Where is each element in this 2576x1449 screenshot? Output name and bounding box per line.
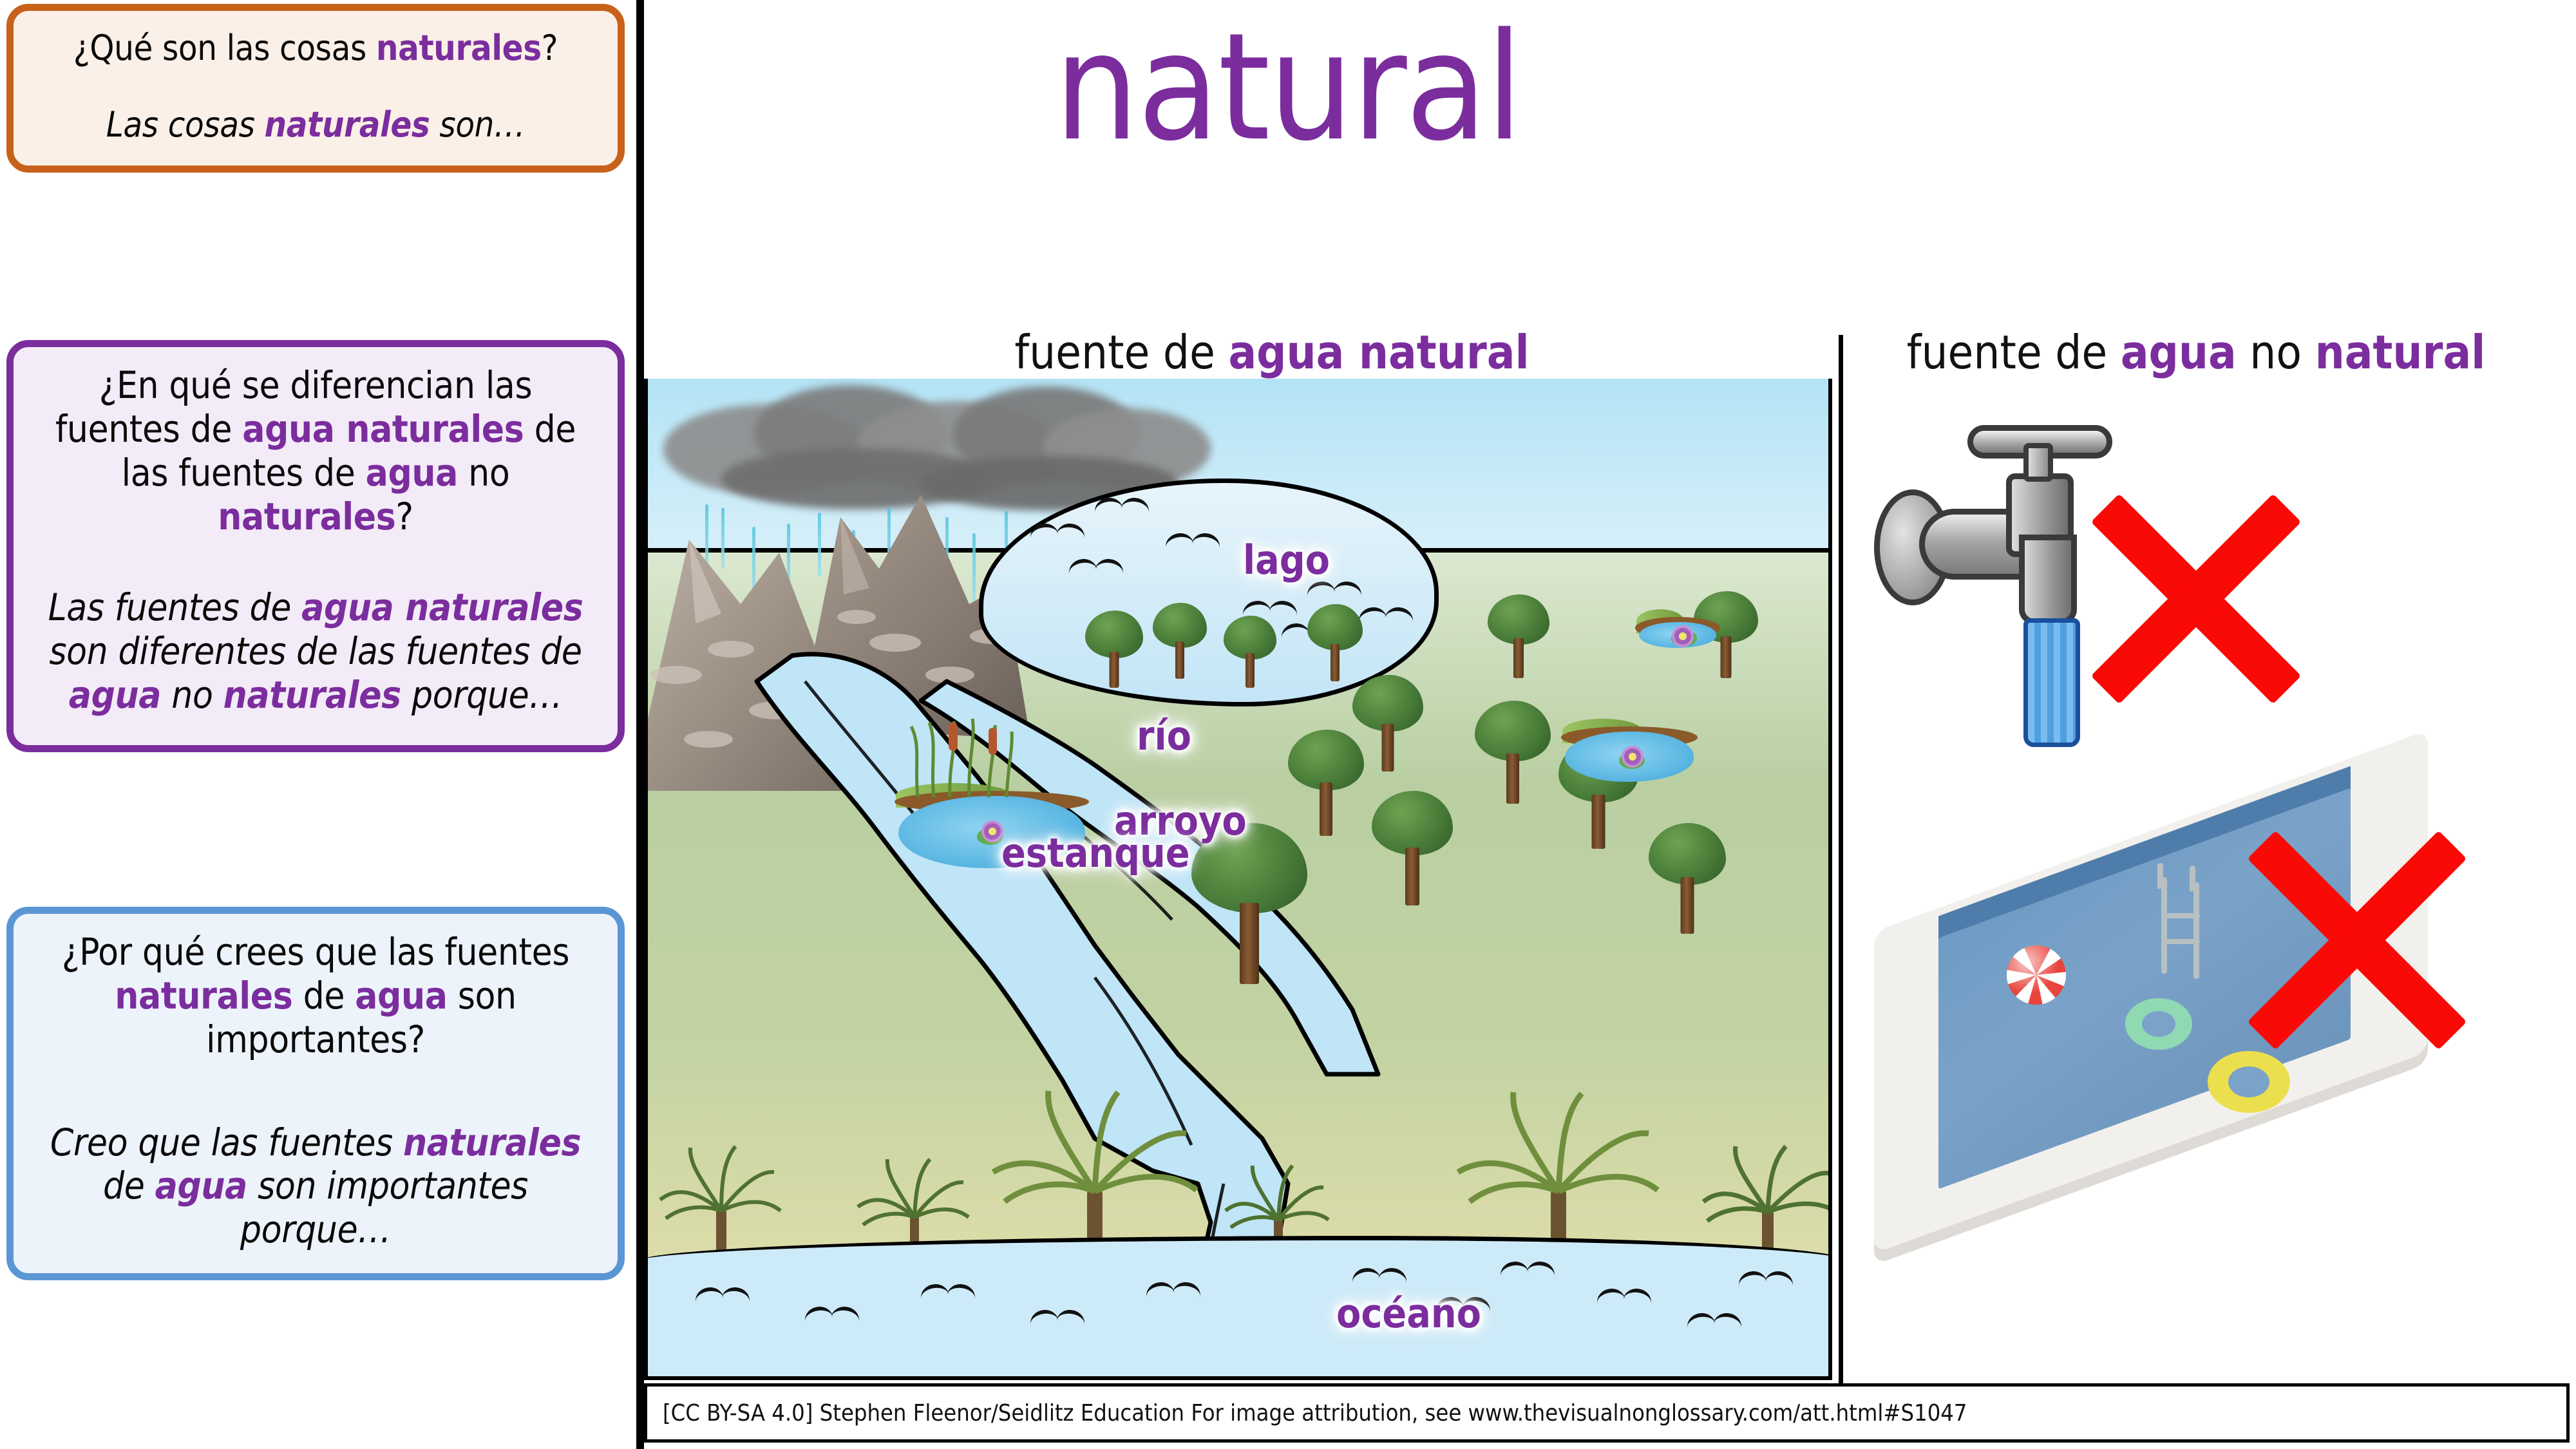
question-card-diferencias-fuentes[interactable]: ¿En qué se diferencian las fuentes de ag… [6, 340, 625, 752]
column-divider [1839, 335, 1843, 1417]
scene-border [644, 379, 1832, 1380]
green-pool-float [2125, 998, 2192, 1050]
question-sidebar: ¿Qué son las cosas naturales? Las cosas … [0, 0, 644, 1449]
subheading-natural-water-source: fuente de agua natural [696, 325, 1848, 379]
answer-stem: Las fuentes de agua naturales son difere… [33, 586, 598, 717]
faucet-handle-stem [2023, 443, 2053, 482]
pool-ladder [2157, 877, 2222, 1006]
red-cross-out-faucet [2067, 470, 2325, 728]
attribution-bar: [CC BY-SA 4.0] Stephen Fleenor/Seidlitz … [644, 1383, 2570, 1443]
question-prompt: ¿Por qué crees que las fuentes naturales… [33, 931, 598, 1062]
answer-stem: Las cosas naturales son… [33, 104, 598, 145]
page-title: natural [644, 14, 1932, 162]
red-cross-out-pool [2222, 805, 2492, 1075]
question-prompt: ¿En qué se diferencian las fuentes de ag… [33, 364, 598, 538]
non-natural-sources-column [1855, 386, 2570, 1391]
natural-water-landscape-illustration: lago río arroyo estanque océano [644, 379, 1832, 1380]
worksheet-page: ¿Qué son las cosas naturales? Las cosas … [0, 0, 2576, 1449]
question-card-que-son-cosas-naturales[interactable]: ¿Qué son las cosas naturales? Las cosas … [6, 4, 625, 173]
answer-stem: Creo que las fuentes naturales de agua s… [33, 1121, 598, 1253]
beach-ball [2007, 945, 2066, 1005]
subheading-non-natural-water-source: fuente de agua no natural [1855, 325, 2537, 379]
attribution-text: [CC BY-SA 4.0] Stephen Fleenor/Seidlitz … [663, 1400, 1967, 1426]
main-panel: natural fuente de agua natural fuente de… [644, 0, 2576, 1449]
question-prompt: ¿Qué son las cosas naturales? [33, 28, 598, 68]
question-card-por-que-importantes[interactable]: ¿Por qué crees que las fuentes naturales… [6, 907, 625, 1280]
